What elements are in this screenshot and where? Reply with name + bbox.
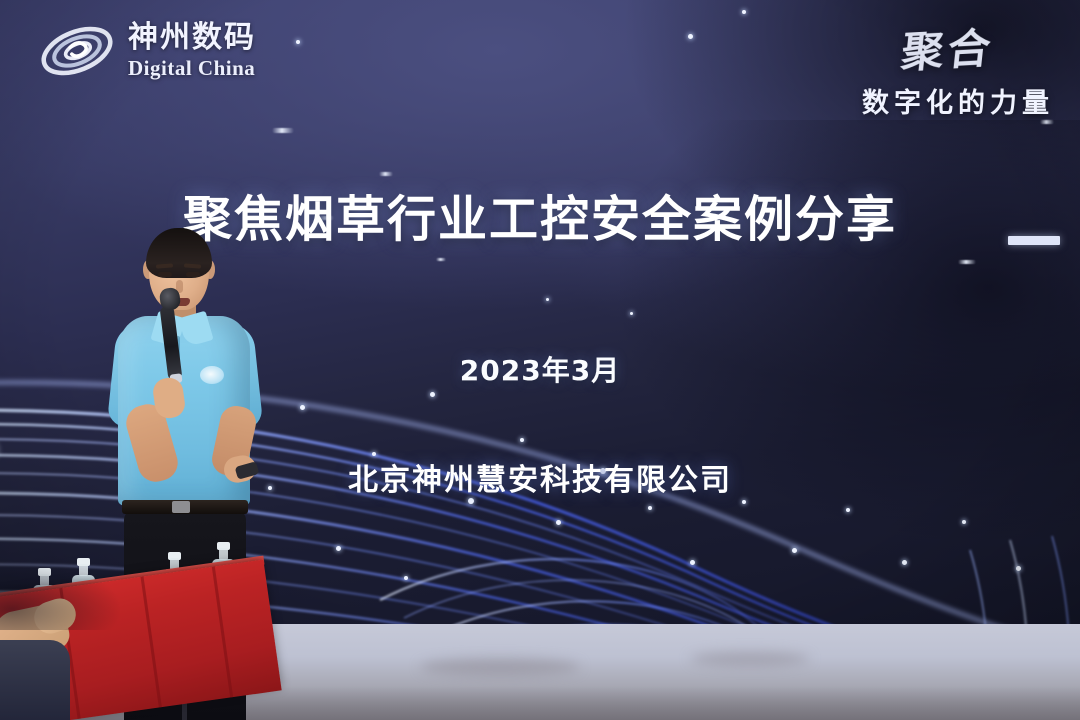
particle-dot	[556, 520, 561, 525]
particle-dot	[336, 546, 341, 551]
speaker-chest-logo-icon	[200, 366, 224, 384]
logo-name-cn: 神州数码	[128, 23, 256, 53]
light-dash	[272, 128, 294, 133]
speaker-belt-buckle	[172, 501, 190, 513]
particle-dot	[630, 312, 633, 315]
speaker-eye-right	[186, 272, 200, 277]
particle-dot	[404, 576, 408, 580]
logo-wordmark: 神州数码 Digital China	[128, 23, 256, 79]
event-brand-block: 聚合 数字化的力量	[862, 18, 1054, 120]
particle-dot	[520, 438, 524, 442]
left-edge-shadow	[0, 560, 120, 630]
particle-dot	[648, 506, 652, 510]
particle-dot	[296, 40, 300, 44]
light-dash	[379, 172, 393, 176]
light-dash	[1040, 120, 1054, 124]
digital-china-logo: 神州数码 Digital China	[38, 20, 256, 82]
particle-dot	[300, 405, 305, 410]
speaker-hair	[146, 228, 212, 278]
event-brand-tagline: 数字化的力量	[862, 81, 1054, 120]
particle-dot	[902, 560, 907, 565]
slide-accent-bar	[1008, 236, 1060, 245]
audience-torso	[0, 640, 70, 720]
particle-dot	[546, 298, 549, 301]
particle-dot	[742, 500, 746, 504]
particle-dot	[1016, 566, 1021, 571]
floor-scuff	[690, 652, 810, 666]
speaker-eye-left	[158, 272, 172, 277]
floor-scuff	[420, 658, 580, 676]
light-dash	[436, 258, 446, 261]
logo-name-en: Digital China	[128, 58, 256, 79]
digital-china-swirl-icon	[38, 20, 116, 82]
table-cloth-fold	[141, 576, 162, 707]
particle-dot	[688, 34, 693, 39]
particle-dot	[690, 560, 695, 565]
event-brand-calligraphy: 聚合	[858, 15, 997, 83]
light-dash	[958, 260, 976, 264]
particle-dot	[846, 508, 850, 512]
particle-dot	[742, 10, 746, 14]
table-cloth-fold	[212, 566, 233, 697]
particle-dot	[430, 392, 435, 397]
conference-photo: 神州数码 Digital China 聚合 数字化的力量 聚焦烟草行业工控安全案…	[0, 0, 1080, 720]
particle-dot	[792, 548, 797, 553]
particle-dot	[962, 520, 966, 524]
